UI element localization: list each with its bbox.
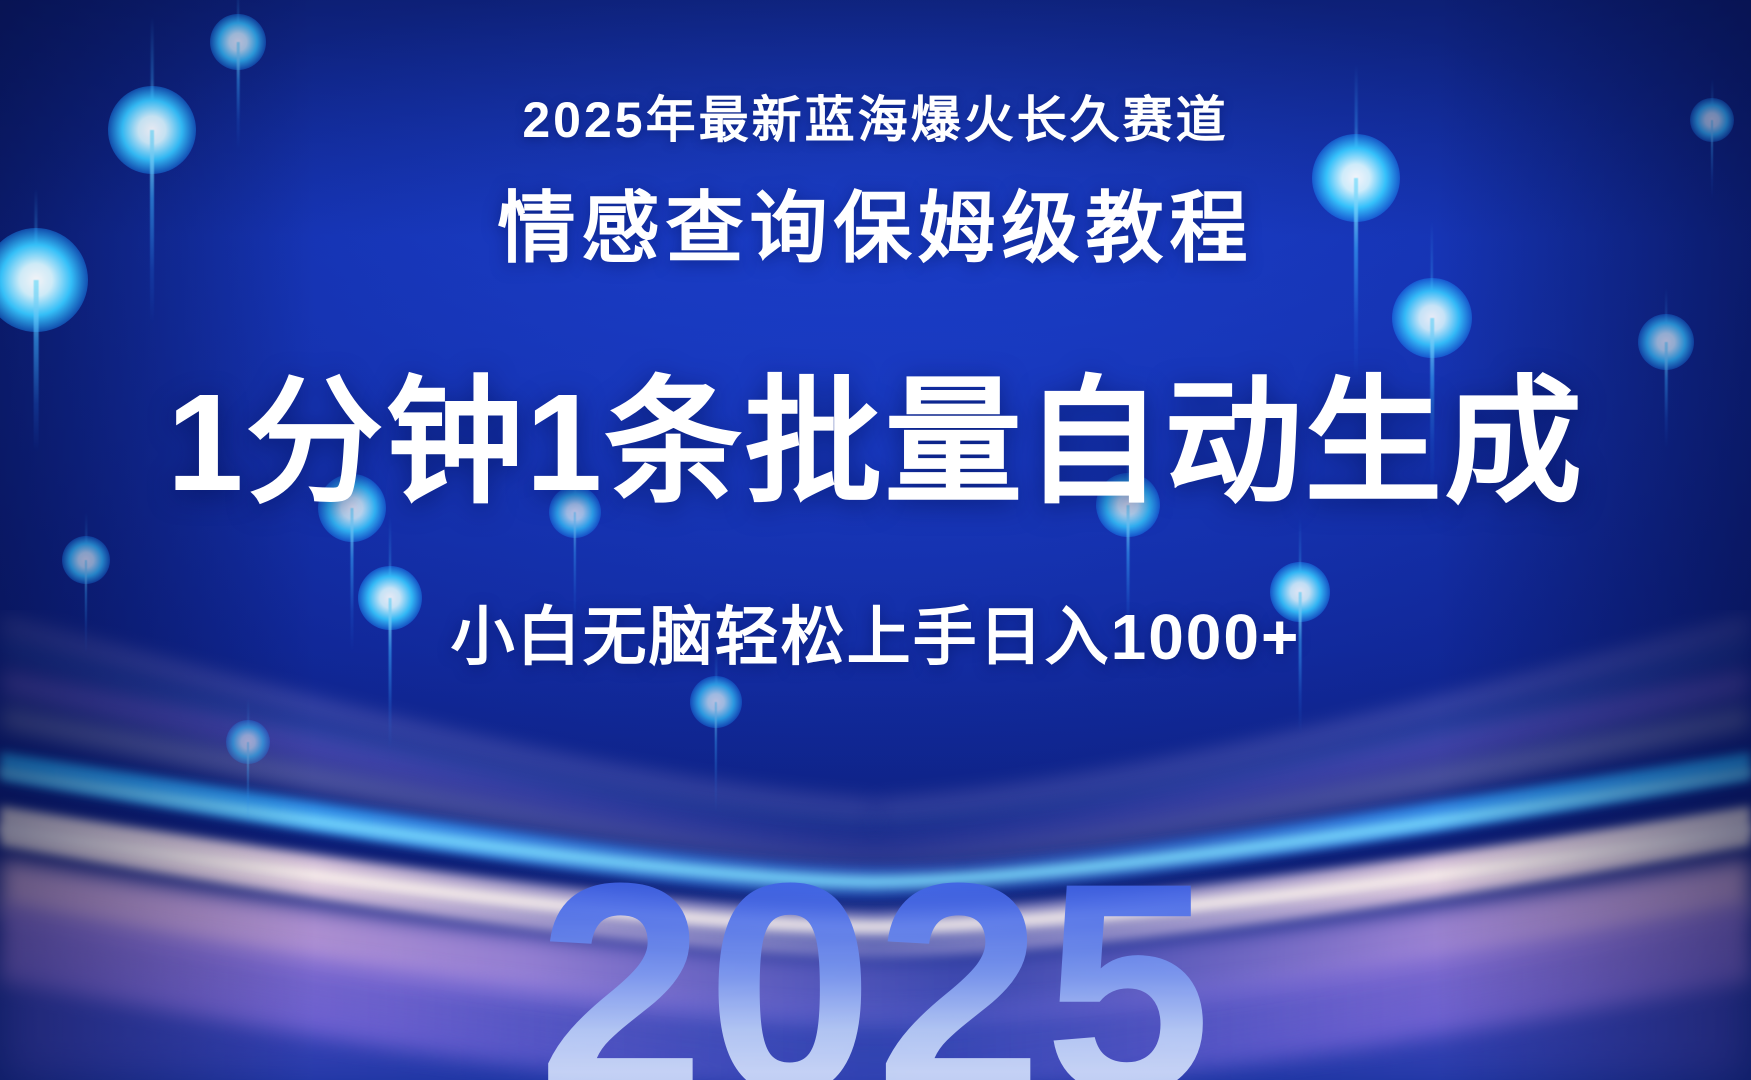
title-text: 情感查询保姆级教程 <box>497 166 1253 278</box>
kicker-text: 2025年最新蓝海爆火长久赛道 <box>522 80 1228 152</box>
headline-stack: 2025年最新蓝海爆火长久赛道 情感查询保姆级教程 1分钟1条批量自动生成 小白… <box>0 0 1751 1080</box>
subtitle-text: 小白无脑轻松上手日入1000+ <box>451 586 1301 678</box>
hero-text: 1分钟1条批量自动生成 <box>167 330 1585 530</box>
poster-canvas: 2025 2025年最新蓝海爆火长久赛道 情感查询保姆级教程 1分钟1条批量自动… <box>0 0 1751 1080</box>
